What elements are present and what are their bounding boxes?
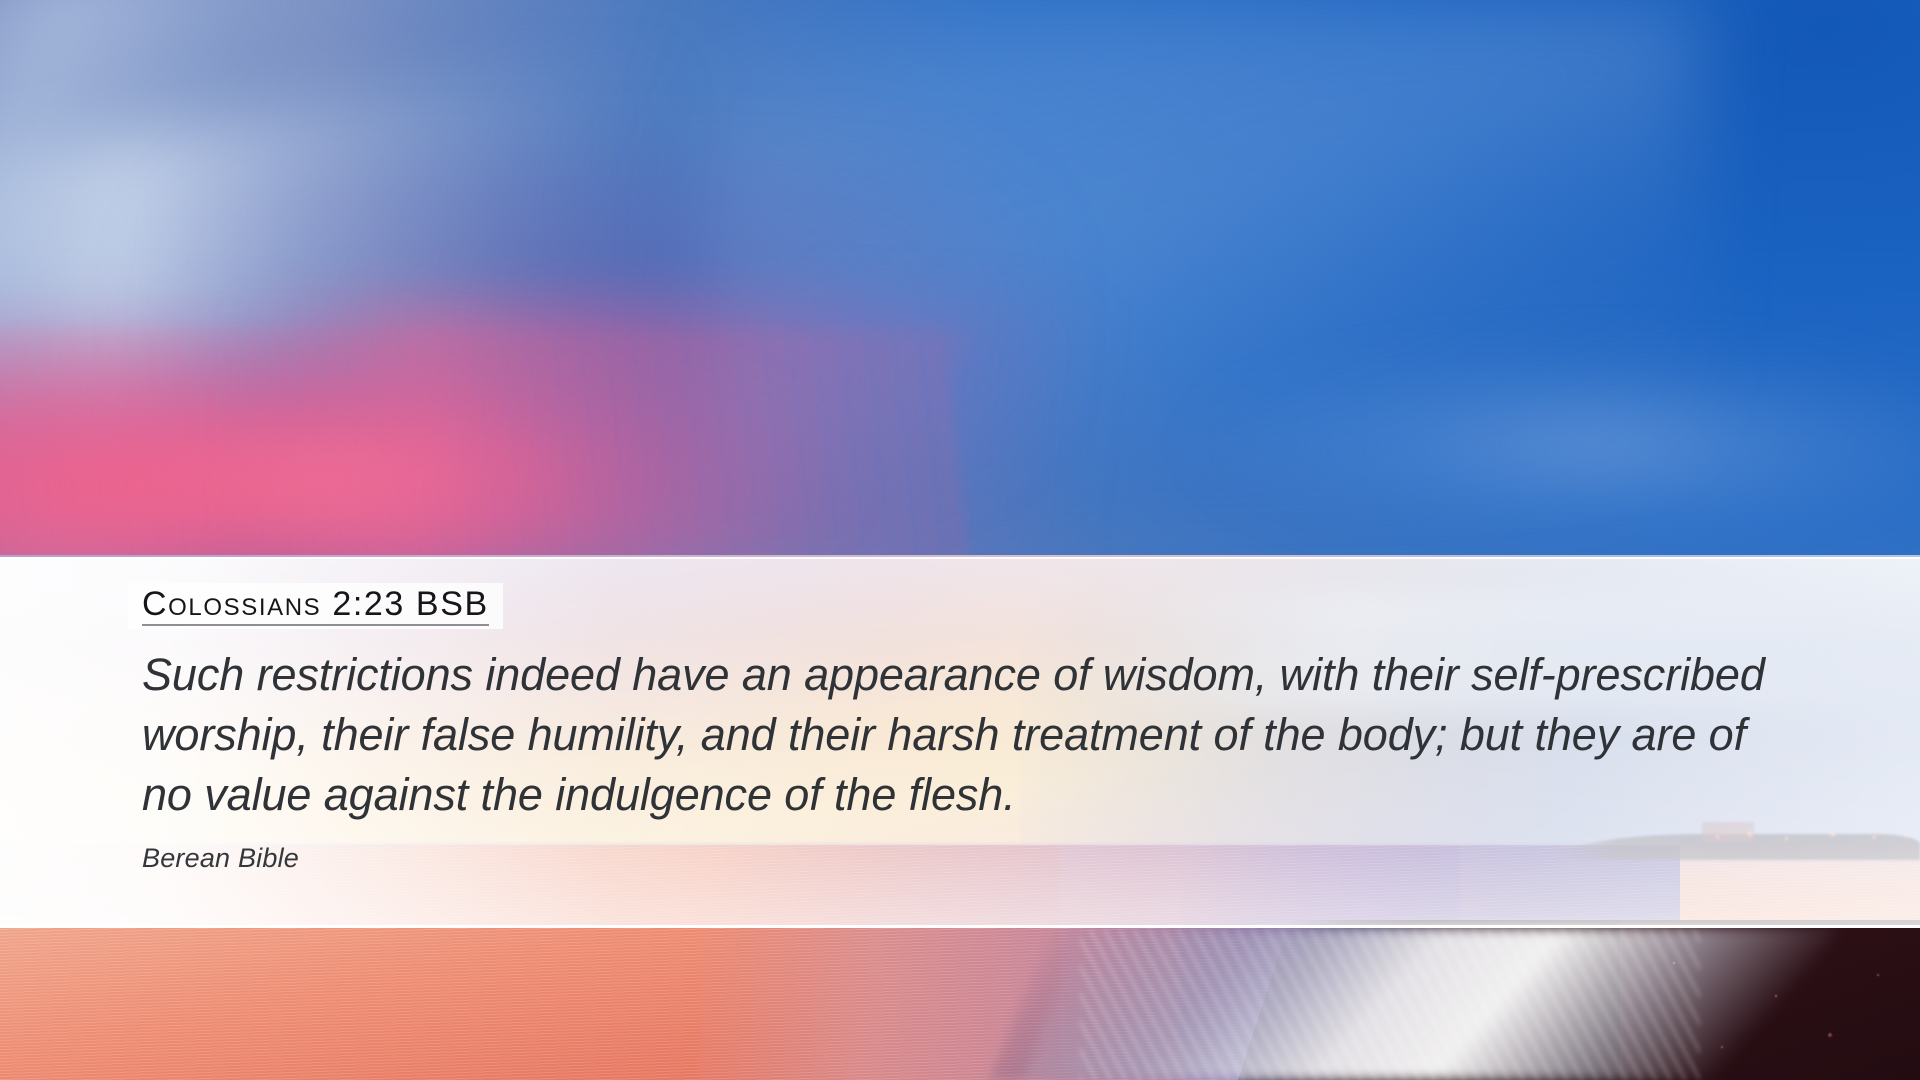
- verse-reference: Colossians 2:23 BSB: [142, 587, 489, 626]
- verse-image-canvas: Colossians 2:23 BSB Such restrictions in…: [0, 0, 1920, 1080]
- verse-attribution: Berean Bible: [142, 843, 1822, 874]
- pink-cloud-streaks: [0, 330, 960, 570]
- overlay-top-edge: [0, 557, 1920, 559]
- overlay-bottom-edge: [0, 925, 1920, 928]
- reference-highlight: Colossians 2:23 BSB: [128, 583, 503, 629]
- verse-text: Such restrictions indeed have an appeara…: [142, 645, 1782, 825]
- verse-content-block: Colossians 2:23 BSB Such restrictions in…: [142, 583, 1822, 874]
- soft-cloud-right: [1180, 330, 1920, 570]
- wave-foam-lace: [1080, 930, 1700, 1080]
